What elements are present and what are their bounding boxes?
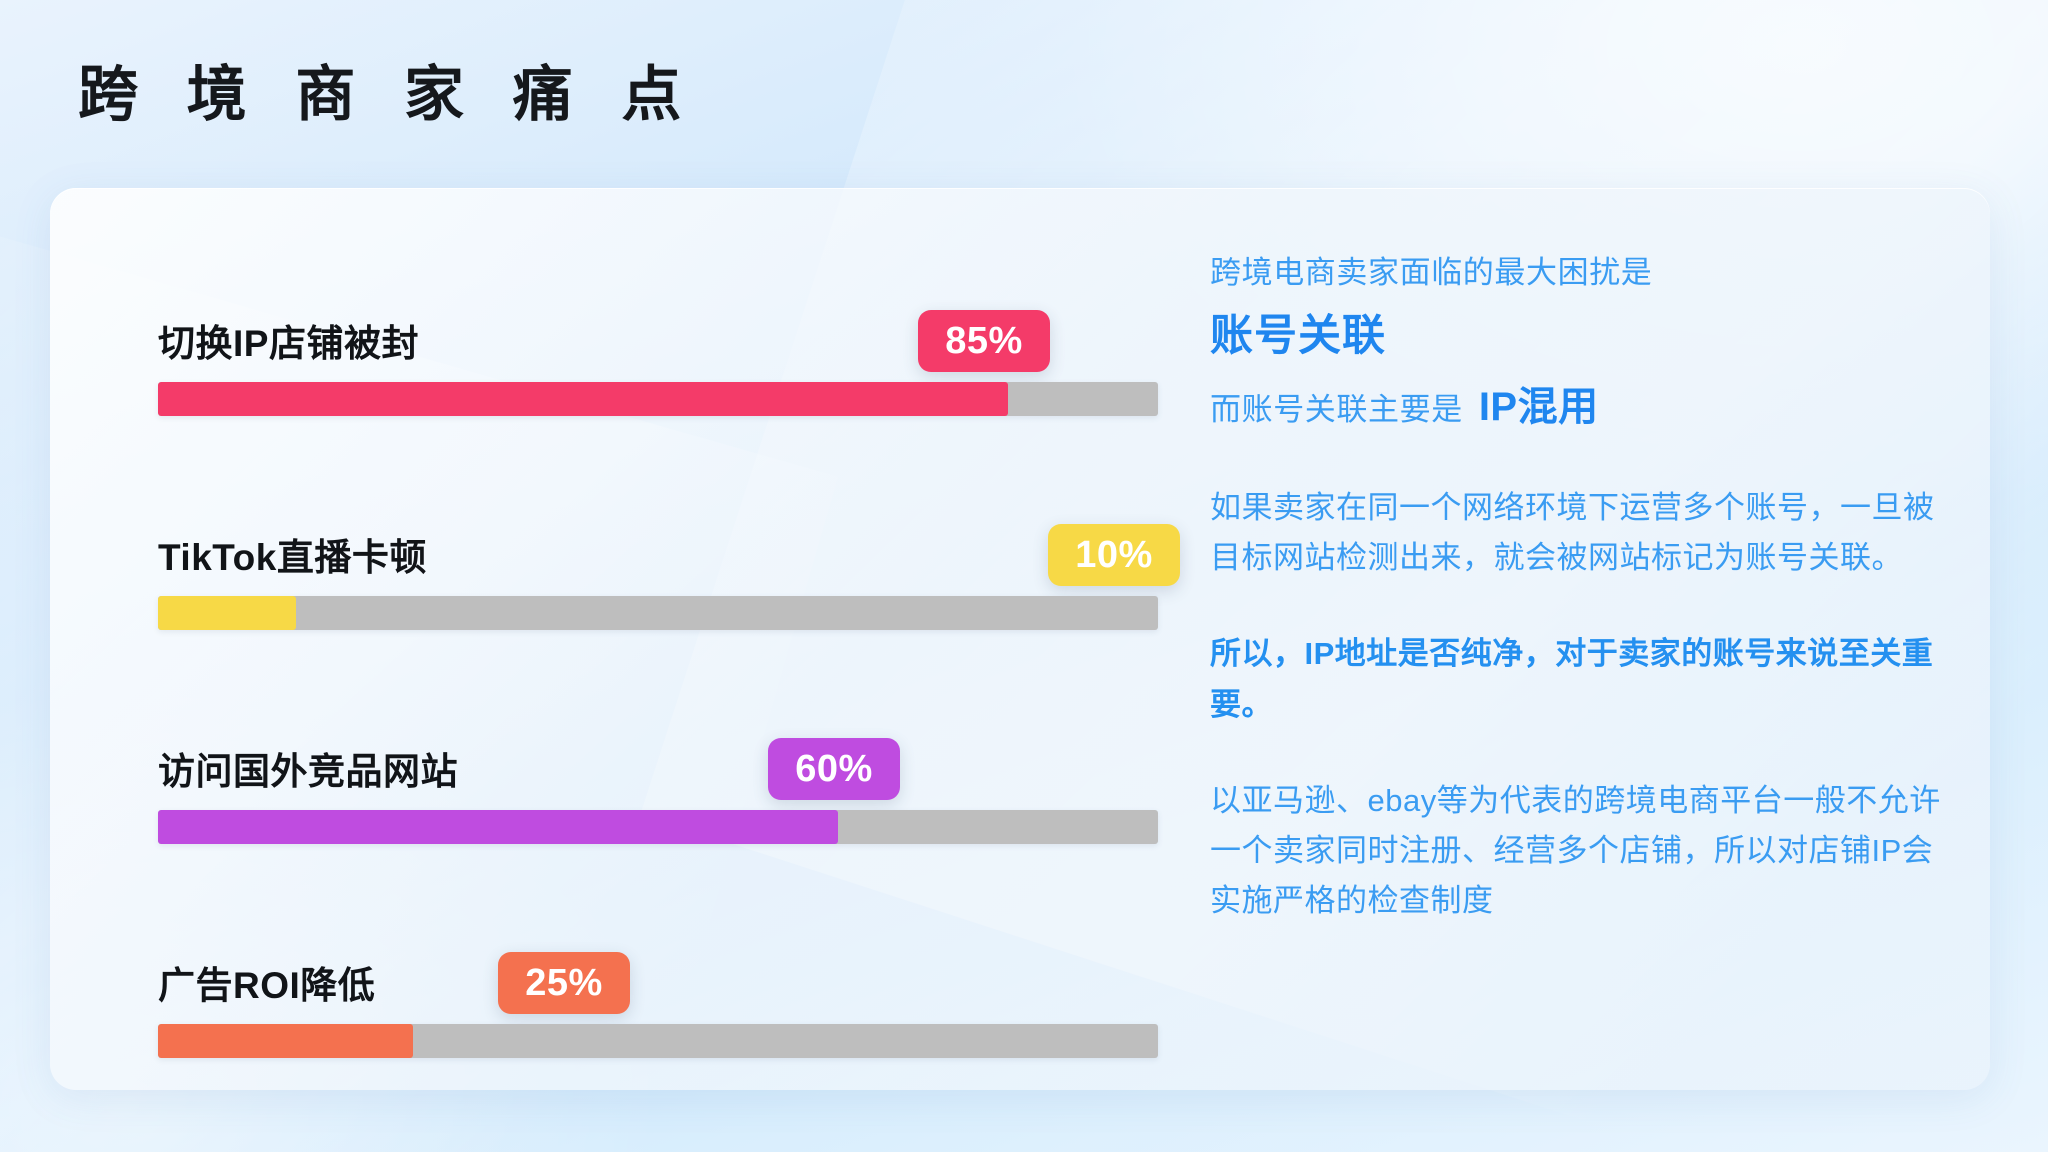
bar-value-badge: 25%: [498, 952, 630, 1014]
explanation-column: 跨境电商卖家面临的最大困扰是 账号关联 而账号关联主要是 IP混用 如果卖家在同…: [1210, 250, 1950, 926]
bar-header: 访问国外竞品网站 60%: [108, 726, 1168, 810]
bar-value-badge: 10%: [1048, 524, 1180, 586]
bar-track: [158, 1024, 1158, 1058]
bar-track: [158, 382, 1158, 416]
bar-label: TikTok直播卡顿: [158, 527, 427, 581]
copy-subline-accent: IP混用: [1479, 377, 1599, 437]
bar-row: 访问国外竞品网站 60%: [108, 726, 1168, 940]
bar-fill: [158, 1024, 413, 1058]
bar-header: 切换IP店铺被封 85%: [108, 298, 1168, 382]
bar-row: 切换IP店铺被封 85%: [108, 298, 1168, 512]
page-title: 跨 境 商 家 痛 点: [78, 62, 697, 128]
bar-value-badge: 85%: [918, 310, 1050, 372]
bar-label: 访问国外竞品网站: [158, 741, 458, 795]
bar-header: TikTok直播卡顿 10%: [108, 512, 1168, 596]
bar-row: TikTok直播卡顿 10%: [108, 512, 1168, 726]
copy-lead: 跨境电商卖家面临的最大困扰是: [1210, 250, 1950, 297]
bar-label: 广告ROI降低: [158, 955, 375, 1009]
bar-fill: [158, 810, 838, 844]
pain-point-bar-chart: 切换IP店铺被封 85% TikTok直播卡顿 10% 访问国外竞品网站: [108, 298, 1168, 1152]
bar-header: 广告ROI降低 25%: [108, 940, 1168, 1024]
copy-subline-prefix: 而账号关联主要是: [1210, 387, 1463, 434]
copy-headline: 账号关联: [1210, 305, 1950, 367]
copy-subline: 而账号关联主要是 IP混用: [1210, 377, 1950, 437]
content-card: 切换IP店铺被封 85% TikTok直播卡顿 10% 访问国外竞品网站: [50, 188, 1990, 1090]
bar-value-badge: 60%: [768, 738, 900, 800]
bar-fill: [158, 596, 296, 630]
copy-paragraph-2: 所以，IP地址是否纯净，对于卖家的账号来说至关重要。: [1210, 629, 1950, 729]
bar-row: 广告ROI降低 25%: [108, 940, 1168, 1152]
slide-root: 跨 境 商 家 痛 点 切换IP店铺被封 85% TikTok直播卡顿 10%: [0, 0, 2048, 1152]
bar-fill: [158, 382, 1008, 416]
copy-paragraph-3: 以亚马逊、ebay等为代表的跨境电商平台一般不允许一个卖家同时注册、经营多个店铺…: [1210, 776, 1950, 927]
bar-track: [158, 596, 1158, 630]
bar-track: [158, 810, 1158, 844]
bar-label: 切换IP店铺被封: [158, 313, 419, 367]
copy-paragraph-1: 如果卖家在同一个网络环境下运营多个账号，一旦被目标网站检测出来，就会被网站标记为…: [1210, 483, 1950, 583]
